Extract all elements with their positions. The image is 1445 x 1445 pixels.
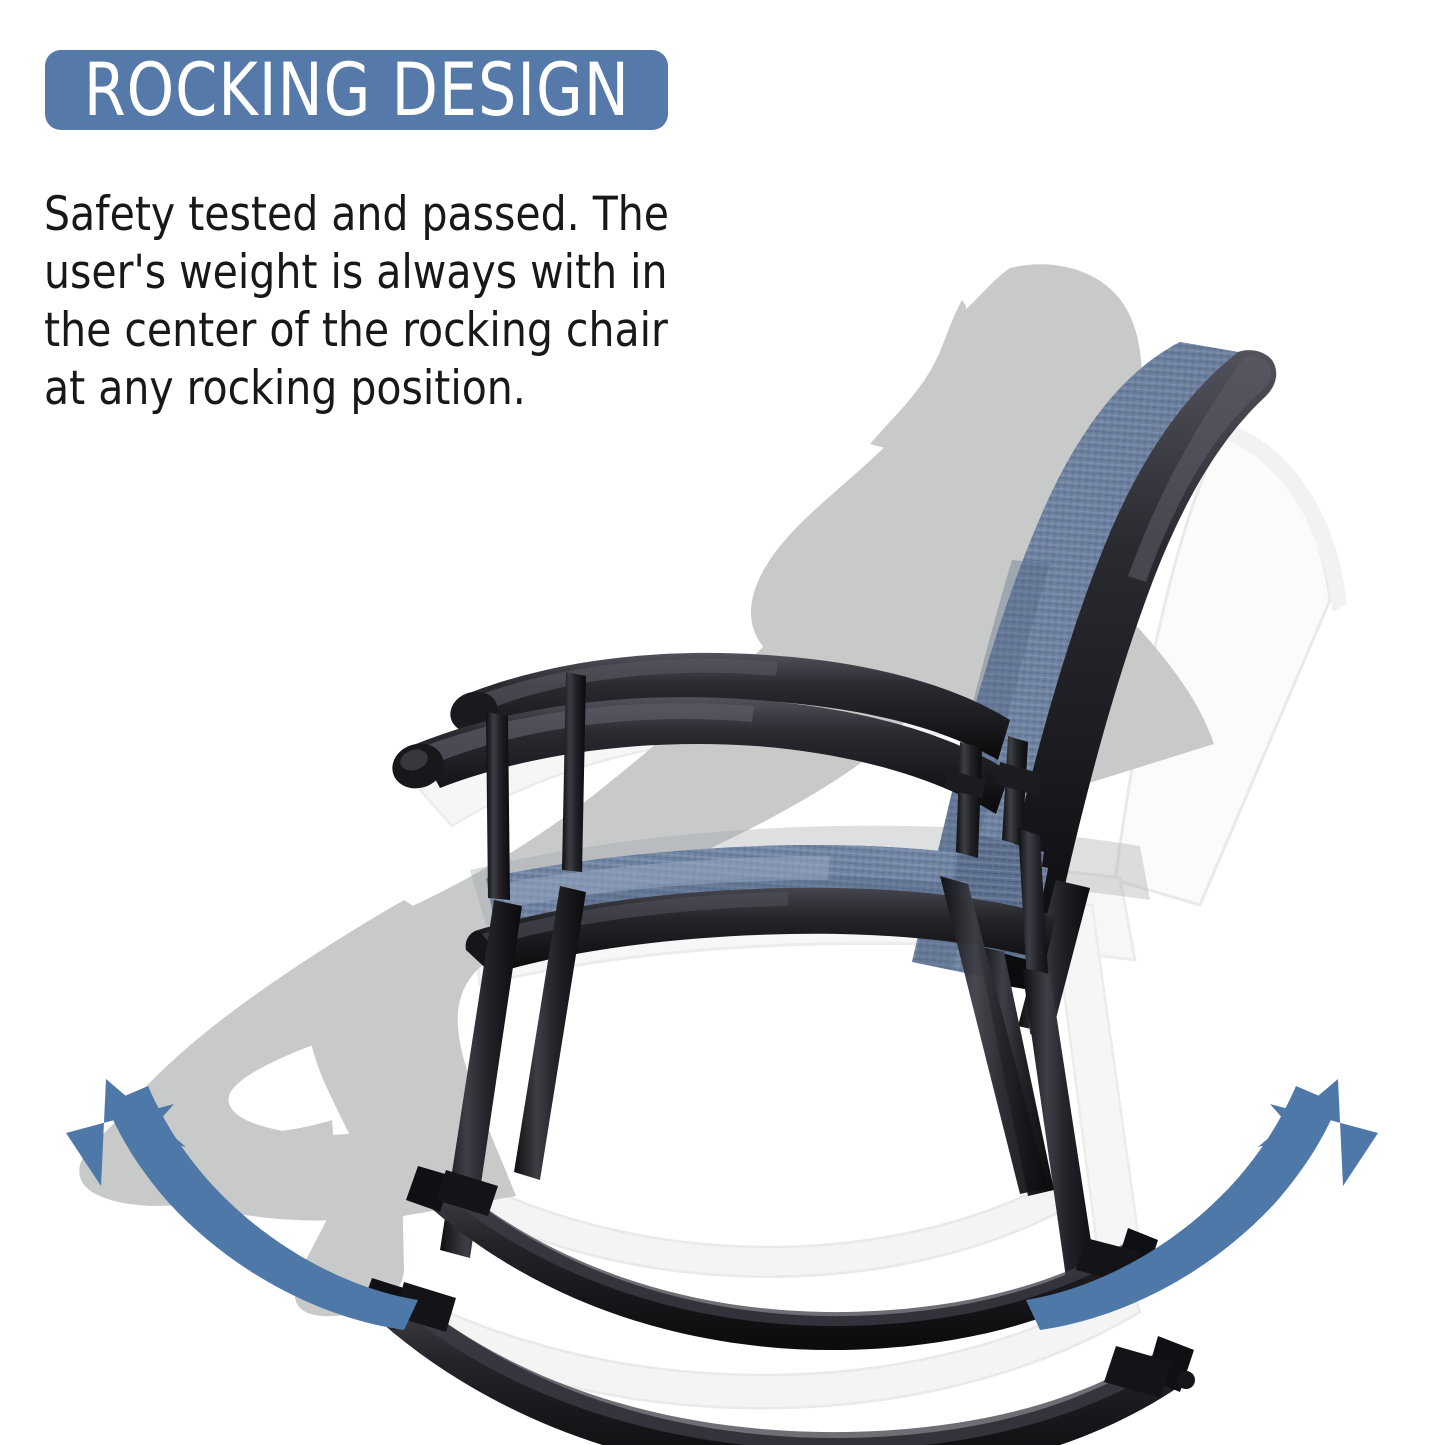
section-title-badge: ROCKING DESIGN <box>45 50 668 130</box>
infographic-page: ROCKING DESIGN Safety tested and passed.… <box>0 0 1445 1445</box>
description-line-2: user's weight is always with in <box>44 244 723 302</box>
description-text: Safety tested and passed. The user's wei… <box>44 186 723 418</box>
page-title: ROCKING DESIGN <box>83 54 629 127</box>
description-line-4: at any rocking position. <box>44 360 723 418</box>
description-line-3: the center of the rocking chair <box>44 302 723 360</box>
description-line-1: Safety tested and passed. The <box>44 186 723 244</box>
